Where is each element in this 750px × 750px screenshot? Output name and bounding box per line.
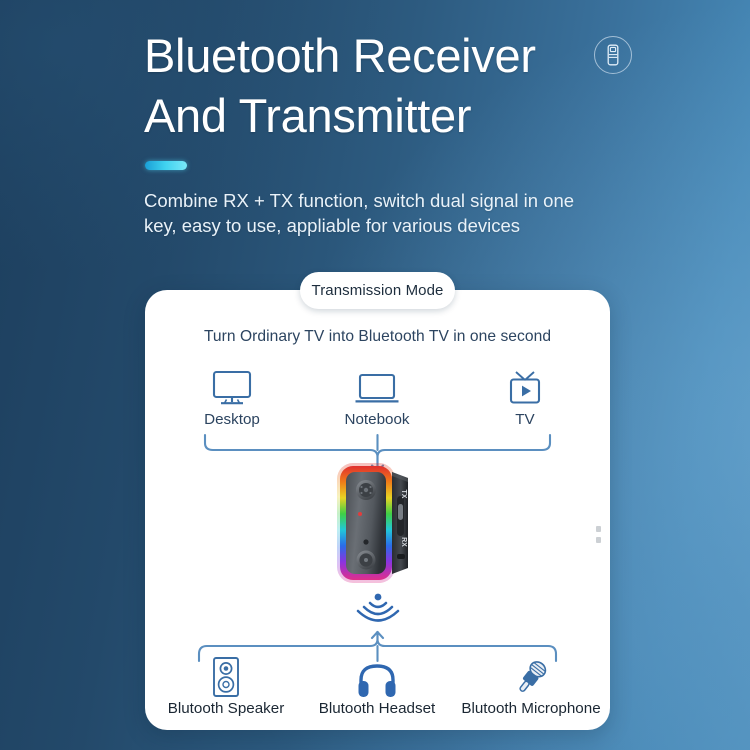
output-devices-row: Blutooth Speaker Blutooth Headset [145,656,610,718]
page-title-line-1: Bluetooth Receiver [144,26,614,86]
output-device-microphone-label: Blutooth Microphone [450,700,612,717]
poster-canvas: Bluetooth Receiver And Transmitter Combi… [0,0,750,750]
headphones-icon [297,656,457,698]
switch-label-rx: RX [400,537,407,547]
output-device-speaker: Blutooth Speaker [151,656,301,717]
output-device-headset-label: Blutooth Headset [297,700,457,717]
page-subtitle-line-2: key, easy to use, appliable for various … [144,213,624,238]
transmission-diagram-card: Transmission Mode Turn Ordinary TV into … [145,290,610,730]
wireless-waves-icon [345,590,411,632]
output-device-microphone: Blutooth Microphone [450,656,612,717]
source-device-notebook-label: Notebook [312,411,442,428]
output-device-headset: Blutooth Headset [297,656,457,717]
source-device-desktop: Desktop [167,368,297,428]
watermark-artifact [596,526,606,550]
desktop-monitor-icon [167,368,297,408]
laptop-icon [312,368,442,408]
transmission-mode-chip: Transmission Mode [300,272,455,309]
microphone-icon [450,656,612,698]
source-device-notebook: Notebook [312,368,442,428]
source-device-desktop-label: Desktop [167,411,297,428]
speaker-icon [151,656,301,698]
page-title: Bluetooth Receiver And Transmitter [144,26,614,146]
accent-divider-pill [145,161,187,170]
transmission-mode-label: Transmission Mode [311,282,443,299]
output-device-speaker-label: Blutooth Speaker [151,700,301,717]
switch-label-tx: TX [400,490,407,499]
card-tagline: Turn Ordinary TV into Bluetooth TV in on… [145,328,610,346]
television-icon [460,368,590,408]
source-devices-row: Desktop Notebook [145,368,610,436]
source-device-tv-label: TV [460,411,590,428]
usb-dongle-icon [594,36,632,74]
page-subtitle: Combine RX + TX function, switch dual si… [144,188,624,238]
source-device-tv: TV [460,368,590,428]
page-subtitle-line-1: Combine RX + TX function, switch dual si… [144,188,624,213]
page-title-line-2: And Transmitter [144,86,614,146]
bluetooth-adapter: TX RX [330,458,426,588]
